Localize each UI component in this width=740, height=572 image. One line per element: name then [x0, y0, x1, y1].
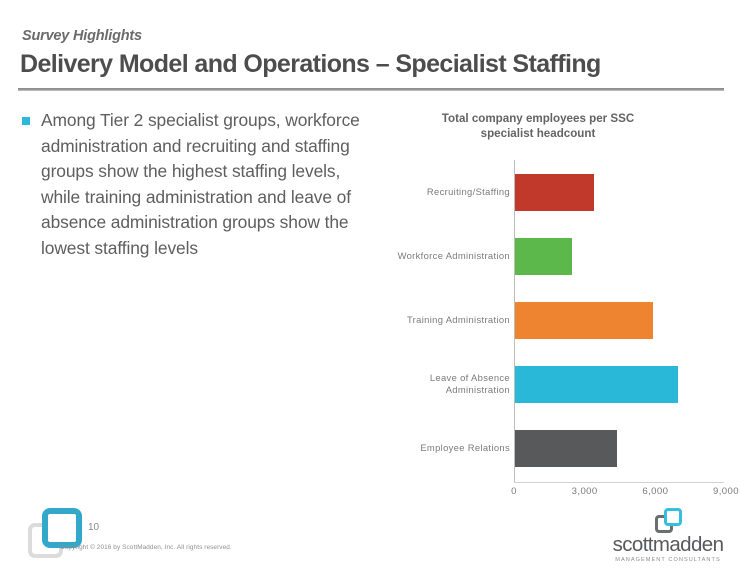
footer-logo-icon	[28, 505, 84, 561]
chart-bar-row: Employee Relations	[386, 416, 726, 480]
chart-bar-row: Recruiting/Staffing	[386, 160, 726, 224]
chart-bar-row: Leave of Absence Administration	[386, 352, 726, 416]
chart-bar-employee-relations[interactable]	[514, 430, 617, 467]
brand-logo: scottmadden MANAGEMENT CONSULTANTS	[604, 508, 732, 566]
brand-mark-icon	[655, 508, 681, 532]
chart-bar-row: Workforce Administration	[386, 224, 726, 288]
chart-category-label-line: Employee Relations	[420, 442, 510, 453]
brand-tagline: MANAGEMENT CONSULTANTS	[604, 557, 732, 563]
chart-bar-recruiting-staffing[interactable]	[514, 174, 594, 211]
chart-bar-track	[514, 416, 726, 480]
chart-category-label-line: Workforce Administration	[398, 250, 510, 261]
chart-category-label: Leave of Absence Administration	[386, 372, 514, 396]
chart-bar-track	[514, 160, 726, 224]
rounded-square-front-icon	[42, 508, 82, 548]
slide-eyebrow: Survey Highlights	[22, 28, 142, 44]
page-number: 10	[88, 522, 99, 533]
chart-bar-workforce-administration[interactable]	[514, 238, 572, 275]
chart-category-label: Employee Relations	[386, 442, 514, 454]
chart-category-label: Training Administration	[386, 314, 514, 326]
chart-bar-track	[514, 288, 726, 352]
chart-x-axis-ticks: 03,0006,0009,000	[514, 486, 724, 502]
chart-x-tick-label: 3,000	[572, 486, 598, 497]
chart-category-label-line: Recruiting/Staffing	[427, 186, 510, 197]
chart-category-label: Workforce Administration	[386, 250, 514, 262]
chart-bar-row: Training Administration	[386, 288, 726, 352]
chart-x-tick-label: 0	[511, 486, 517, 497]
chart-title: Total company employees per SSC speciali…	[386, 112, 690, 141]
chart-bar-track	[514, 352, 726, 416]
bullet-list: Among Tier 2 specialist groups, workforc…	[22, 108, 384, 262]
slide-header: Survey Highlights Delivery Model and Ope…	[0, 0, 740, 96]
chart-bar-training-administration[interactable]	[514, 302, 653, 339]
chart-category-label: Recruiting/Staffing	[386, 186, 514, 198]
bullet-text: Among Tier 2 specialist groups, workforc…	[41, 108, 384, 262]
chart-x-axis-line	[514, 482, 724, 483]
chart-category-label-line: Training Administration	[407, 314, 510, 325]
chart-plot-area: Recruiting/Staffing Workforce Administra…	[386, 160, 726, 500]
copyright-notice: Copyright © 2016 by ScottMadden, Inc. Al…	[60, 544, 232, 551]
list-item: Among Tier 2 specialist groups, workforc…	[22, 108, 384, 262]
chart-y-axis-line	[514, 160, 515, 482]
bullet-square-icon	[22, 117, 30, 125]
chart-x-tick-label: 9,000	[713, 486, 739, 497]
chart-category-label-line: Leave of Absence	[430, 372, 510, 383]
chart-category-label-line: Administration	[446, 384, 510, 395]
chart-title-line-2: specialist headcount	[481, 127, 596, 140]
page-title: Delivery Model and Operations – Speciali…	[20, 50, 601, 79]
rounded-square-cyan-icon	[664, 508, 682, 526]
chart-title-line-1: Total company employees per SSC	[442, 112, 634, 125]
chart-panel: Total company employees per SSC speciali…	[386, 108, 726, 508]
title-divider	[18, 88, 724, 91]
chart-bar-leave-of-absence-administration[interactable]	[514, 366, 678, 403]
brand-name: scottmadden	[604, 534, 732, 555]
chart-x-tick-label: 6,000	[642, 486, 668, 497]
chart-bar-track	[514, 224, 726, 288]
